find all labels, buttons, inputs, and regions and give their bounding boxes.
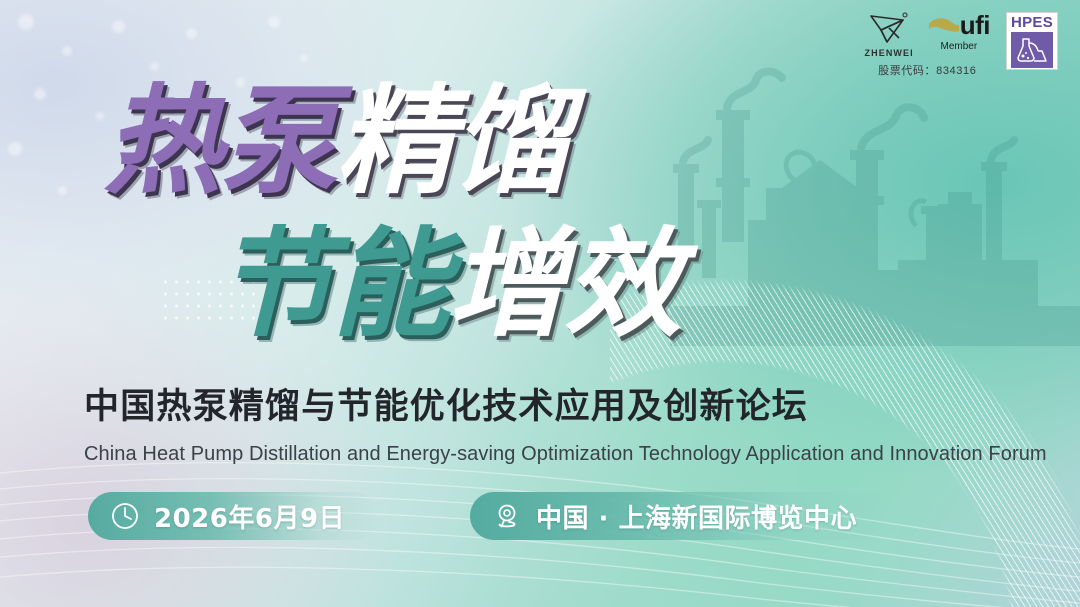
event-venue-pill: 中国 · 上海新国际博览中心 <box>470 492 891 540</box>
ufi-logo: ufi Member <box>928 12 990 52</box>
headline-line-2-segment-2: 增效 <box>448 188 680 359</box>
ufi-member-label: Member <box>941 41 978 52</box>
location-pin-icon <box>492 501 522 531</box>
stock-code: 股票代码：834316 <box>878 62 976 78</box>
hpes-logo: HPES <box>1006 12 1058 70</box>
zhenwei-logo: ZHENWEI <box>865 12 914 58</box>
ufi-swoosh-icon <box>928 13 960 37</box>
subtitle-chinese: 中国热泵精馏与节能优化技术应用及创新论坛 <box>84 378 808 429</box>
event-banner: ZHENWEI ufi Member 股票代码：834316 HPES <box>0 0 1080 607</box>
flask-distillation-icon <box>1015 36 1049 64</box>
event-date-text: 2026年6月9日 <box>154 498 345 535</box>
clock-icon <box>110 501 140 531</box>
factory-silhouette-icon <box>670 60 1080 390</box>
ufi-name: ufi <box>960 12 990 38</box>
headline-line-2: 节能增效 <box>216 188 680 359</box>
event-date-pill: 2026年6月9日 <box>88 492 379 540</box>
hpes-name: HPES <box>1011 15 1053 32</box>
zhenwei-name: ZHENWEI <box>865 48 914 58</box>
logo-bar: ZHENWEI ufi Member 股票代码：834316 HPES <box>865 12 1058 78</box>
zhenwei-paper-plane-icon <box>869 12 909 46</box>
zhenwei-ufi-group: ZHENWEI ufi Member 股票代码：834316 <box>865 12 990 78</box>
subtitle-english: China Heat Pump Distillation and Energy-… <box>84 443 1047 466</box>
headline-line-2-segment-1: 节能 <box>216 188 448 359</box>
event-venue-text: 中国 · 上海新国际博览中心 <box>536 498 857 535</box>
